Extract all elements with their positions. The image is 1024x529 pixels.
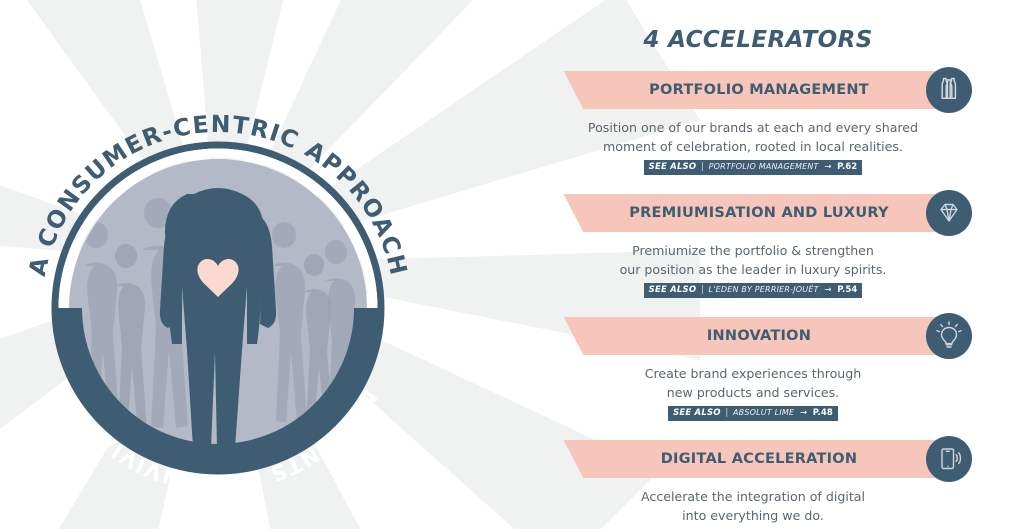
arrow-right-icon: → bbox=[821, 162, 834, 172]
see-also-reference: ABSOLUT LIME bbox=[733, 408, 794, 417]
arrow-right-icon: → bbox=[797, 408, 810, 418]
see-also-row: SEE ALSO | L'EDEN BY PERRIER-JOUËT → P.5… bbox=[548, 282, 958, 300]
accelerator-body: Premiumize the portfolio & strengthen ou… bbox=[548, 241, 958, 279]
infographic-page: A CONSUMER-CENTRIC APPROACH MOMENTS OF C… bbox=[0, 0, 1024, 529]
banner-row: PREMIUMISATION AND LUXURY bbox=[548, 194, 1024, 232]
see-also-separator: | bbox=[723, 408, 730, 418]
body-line: Position one of our brands at each and e… bbox=[548, 118, 958, 137]
see-also-reference: PORTFOLIO MANAGEMENT bbox=[709, 162, 819, 171]
accelerator-label: DIGITAL ACCELERATION bbox=[568, 440, 950, 478]
see-also-separator: | bbox=[699, 285, 706, 295]
accelerator-body: Create brand experiences through new pro… bbox=[548, 364, 958, 402]
banner-row: DIGITAL ACCELERATION bbox=[548, 440, 1024, 478]
accelerator-body: Accelerate the integration of digital in… bbox=[548, 487, 958, 525]
accelerator-label: INNOVATION bbox=[568, 317, 950, 355]
see-also-row: SEE ALSO | ABSOLUT LIME → P.48 bbox=[548, 405, 958, 423]
see-also-reference: L'EDEN BY PERRIER-JOUËT bbox=[709, 285, 819, 294]
accelerators-title: 4 ACCELERATORS bbox=[548, 27, 968, 53]
see-also-tag: SEE ALSO bbox=[673, 408, 721, 418]
see-also-page: P.62 bbox=[837, 162, 857, 172]
see-also-row: SEE ALSO | PORTFOLIO MANAGEMENT → P.62 bbox=[548, 159, 958, 177]
body-line: into everything we do. bbox=[548, 506, 958, 525]
body-line: Create brand experiences through bbox=[548, 364, 958, 383]
accelerator-card-premiumisation-and-luxury[interactable]: PREMIUMISATION AND LUXURY Premiumize the… bbox=[548, 194, 1024, 300]
mobile-signal-icon[interactable] bbox=[926, 436, 972, 482]
badge-svg: A CONSUMER-CENTRIC APPROACH MOMENTS OF C… bbox=[18, 108, 418, 508]
accelerator-card-innovation[interactable]: INNOVATION bbox=[548, 317, 1024, 423]
see-also-tag: SEE ALSO bbox=[649, 162, 697, 172]
accelerator-card-digital-acceleration[interactable]: DIGITAL ACCELERATION Accelerate the i bbox=[548, 440, 1024, 529]
see-also-badge[interactable]: SEE ALSO | PORTFOLIO MANAGEMENT → P.62 bbox=[644, 160, 863, 175]
arrow-right-icon: → bbox=[821, 285, 834, 295]
consumer-centric-badge: A CONSUMER-CENTRIC APPROACH MOMENTS OF C… bbox=[18, 108, 418, 508]
body-line: Accelerate the integration of digital bbox=[548, 487, 958, 506]
accelerator-label: PREMIUMISATION AND LUXURY bbox=[568, 194, 950, 232]
see-also-page: P.54 bbox=[837, 285, 857, 295]
body-line: new products and services. bbox=[548, 383, 958, 402]
see-also-tag: SEE ALSO bbox=[649, 285, 697, 295]
body-line: our position as the leader in luxury spi… bbox=[548, 260, 958, 279]
bottles-icon[interactable] bbox=[926, 67, 972, 113]
accelerator-card-portfolio-management[interactable]: PORTFOLIO MANAGEMENT Position one of our… bbox=[548, 71, 1024, 177]
banner-row: PORTFOLIO MANAGEMENT bbox=[548, 71, 1024, 109]
body-line: moment of celebration, rooted in local r… bbox=[548, 137, 958, 156]
accelerator-label: PORTFOLIO MANAGEMENT bbox=[568, 71, 950, 109]
see-also-badge[interactable]: SEE ALSO | ABSOLUT LIME → P.48 bbox=[668, 406, 838, 421]
banner-row: INNOVATION bbox=[548, 317, 1024, 355]
body-line: Premiumize the portfolio & strengthen bbox=[548, 241, 958, 260]
see-also-badge[interactable]: SEE ALSO | L'EDEN BY PERRIER-JOUËT → P.5… bbox=[644, 283, 863, 298]
see-also-page: P.48 bbox=[813, 408, 833, 418]
accelerator-body: Position one of our brands at each and e… bbox=[548, 118, 958, 156]
diamond-icon[interactable] bbox=[926, 190, 972, 236]
accelerators-column: 4 ACCELERATORS PORTFOLIO MANAGEMENT bbox=[548, 0, 1024, 529]
lightbulb-icon[interactable] bbox=[926, 313, 972, 359]
see-also-separator: | bbox=[699, 162, 706, 172]
